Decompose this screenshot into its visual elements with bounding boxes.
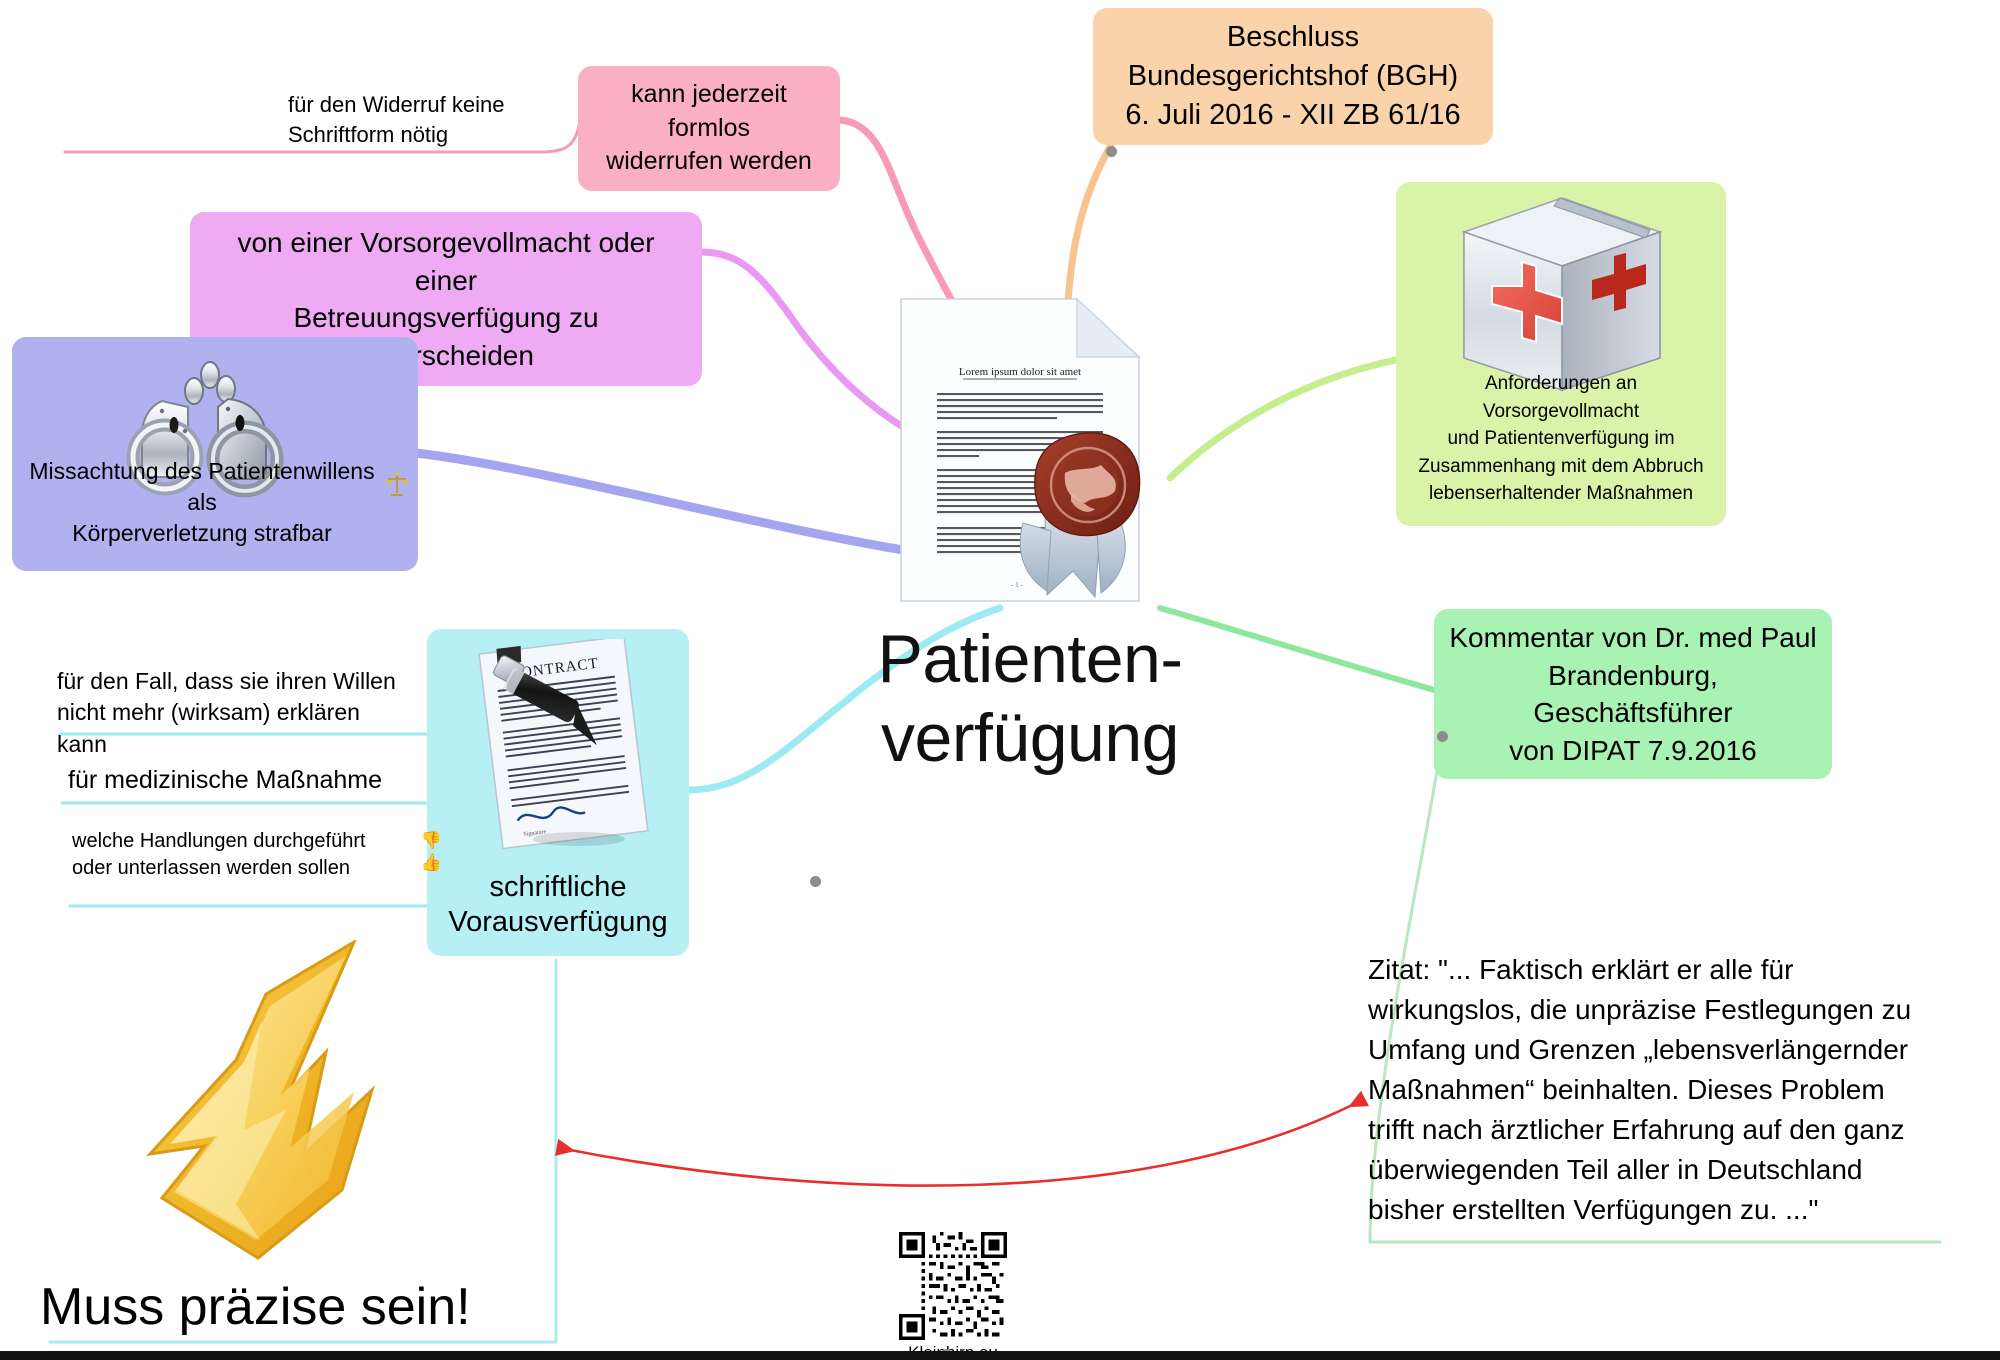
plain-handlungen-line-2: oder unterlassen werden sollen — [72, 855, 402, 882]
plain-handlungen-line-1: welche Handlungen durchgeführt — [72, 828, 402, 855]
sealed-document-icon: Lorem ipsum dolor sit amet - 1 - — [895, 295, 1145, 605]
thumbs-down-icon: 👎 — [421, 830, 442, 852]
first-aid-kit-icon — [1450, 190, 1672, 400]
plain-medizin-line-1: für medizinische Maßnahme — [68, 763, 398, 797]
node-missachtung-line-2: Körperverletzung strafbar — [20, 518, 384, 549]
page-title-line-2: verfügung — [800, 699, 1260, 778]
node-quotation[interactable]: Zitat: "... Faktisch erklärt er alle für… — [1368, 950, 1938, 1230]
handlungen-marker-icons: 👎 👍 — [421, 830, 442, 875]
plain-fall-line-2: nicht mehr (wirksam) erklären kann — [57, 697, 407, 760]
edge-anforderungen — [1170, 360, 1396, 478]
doc-heading: Lorem ipsum dolor sit amet — [959, 366, 1081, 378]
node-no-written-form-needed[interactable]: für den Widerruf keine Schriftform nötig — [288, 90, 548, 150]
node-schriftlich-line-1: schriftliche — [433, 870, 683, 905]
node-anforderungen-line-1: Anforderungen an Vorsorgevollmacht — [1406, 370, 1716, 425]
wax-seal-globe-icon — [1035, 433, 1140, 536]
node-widerruf-line-2: widerrufen werden — [592, 145, 826, 179]
node-anforderungen-line-4: lebenserhaltender Maßnahmen — [1406, 480, 1716, 508]
node-anforderungen-line-2: und Patientenverfügung im — [1406, 425, 1716, 453]
node-missachtung-caption: Missachtung des Patientenwillens als Kör… — [20, 456, 384, 549]
bottom-bar — [0, 1351, 2000, 1360]
page-title-line-1: Patienten- — [800, 620, 1260, 699]
node-disregard-is-bodily-harm[interactable]: Missachtung des Patientenwillens als Kör… — [12, 337, 418, 571]
node-bgh-dot — [1106, 146, 1117, 157]
node-revocable-anytime[interactable]: kann jederzeit formlos widerrufen werden — [578, 66, 840, 191]
node-kommentar-line-1: Kommentar von Dr. med Paul — [1448, 619, 1818, 657]
node-bgh-decision[interactable]: Beschluss Bundesgerichtshof (BGH) 6. Jul… — [1093, 8, 1493, 145]
doc-page-number: - 1 - — [1011, 581, 1023, 589]
page-title: Patienten- verfügung — [800, 620, 1260, 778]
node-bgh-line-3: 6. Juli 2016 - XII ZB 61/16 — [1109, 96, 1477, 135]
central-node-dot — [810, 876, 821, 887]
node-kommentar-line-2: Brandenburg, Geschäftsführer — [1448, 657, 1818, 732]
node-anforderungen-line-3: Zusammenhang mit dem Abbruch — [1406, 453, 1716, 481]
node-written-advance-directive[interactable]: CONTRACT Signature — [427, 629, 689, 956]
plain-muss-line-1: Muss präzise sein! — [40, 1272, 560, 1343]
node-kommentar-dot — [1437, 731, 1448, 742]
node-bgh-line-1: Beschluss — [1109, 18, 1477, 57]
node-kommentar-line-3: von DIPAT 7.9.2016 — [1448, 732, 1818, 770]
node-schriftlich-line-2: Vorausverfügung — [433, 905, 683, 940]
node-missachtung-line-1: Missachtung des Patientenwillens als — [20, 456, 384, 518]
signed-contract-icon: CONTRACT Signature — [449, 639, 669, 854]
relation-arrow-zitat-to-muss — [560, 1100, 1362, 1186]
plain-schriftform-line-2: Schriftform nötig — [288, 120, 548, 150]
node-must-be-precise[interactable]: Muss präzise sein! — [40, 1272, 560, 1343]
node-which-actions-performed-or-omitted[interactable]: welche Handlungen durchgeführt oder unte… — [72, 828, 402, 882]
scales-of-justice-icon — [384, 471, 410, 499]
node-for-medical-measure[interactable]: für medizinische Maßnahme — [68, 763, 398, 797]
node-requirements-life-sustaining[interactable]: Anforderungen an Vorsorgevollmacht und P… — [1396, 182, 1726, 526]
mindmap-canvas: Lorem ipsum dolor sit amet - 1 - — [0, 0, 2000, 1360]
qr-code-icon — [899, 1232, 1007, 1340]
node-schriftlich-caption: schriftliche Vorausverfügung — [433, 870, 683, 940]
node-vorsorge-line-1: von einer Vorsorgevollmacht oder einer — [206, 224, 686, 299]
node-when-will-cannot-be-expressed[interactable]: für den Fall, dass sie ihren Willen nich… — [57, 666, 407, 760]
yellow-lightning-arrow-icon — [140, 940, 380, 1270]
footer-qr-block[interactable]: Kleinhirn.eu — [888, 1232, 1018, 1360]
node-widerruf-line-1: kann jederzeit formlos — [592, 78, 826, 145]
plain-schriftform-line-1: für den Widerruf keine — [288, 90, 548, 120]
edge-bgh — [1068, 145, 1111, 300]
thumbs-up-icon: 👍 — [421, 852, 442, 874]
plain-fall-line-1: für den Fall, dass sie ihren Willen — [57, 666, 407, 697]
node-anforderungen-caption: Anforderungen an Vorsorgevollmacht und P… — [1406, 370, 1716, 508]
node-commentary-dipat[interactable]: Kommentar von Dr. med Paul Brandenburg, … — [1434, 609, 1832, 779]
node-bgh-line-2: Bundesgerichtshof (BGH) — [1109, 57, 1477, 96]
